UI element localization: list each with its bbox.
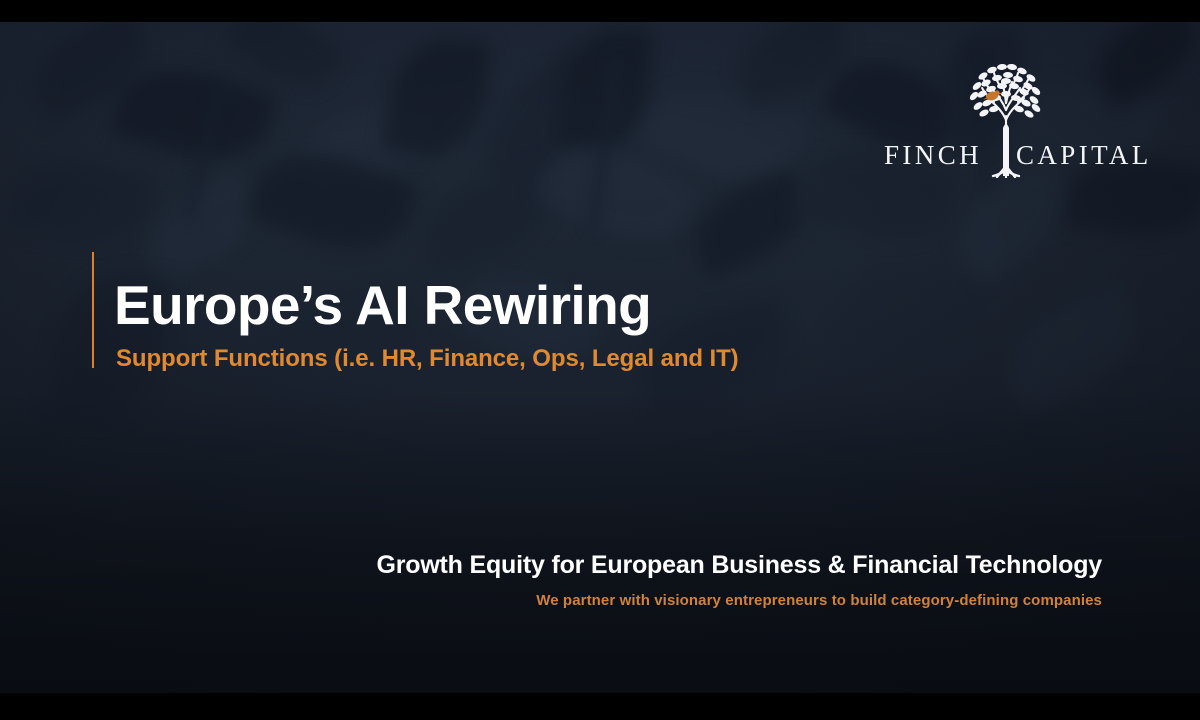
finch-capital-logo[interactable]: FINCH CAPITAL bbox=[880, 58, 1130, 178]
title-accent-bar bbox=[92, 252, 94, 368]
page-title: Europe’s AI Rewiring bbox=[114, 272, 739, 338]
page-subtitle: Support Functions (i.e. HR, Finance, Ops… bbox=[116, 344, 739, 374]
title-block: Europe’s AI Rewiring Support Functions (… bbox=[114, 272, 739, 374]
logo-wordmark: FINCH CAPITAL bbox=[880, 138, 1130, 172]
footer-subtagline: We partner with visionary entrepreneurs … bbox=[0, 590, 1102, 612]
letterbox-bar-top bbox=[0, 0, 1200, 22]
footer-tagline-block: Growth Equity for European Business & Fi… bbox=[0, 548, 1102, 612]
logo-word-finch: FINCH bbox=[884, 138, 982, 172]
footer-tagline: Growth Equity for European Business & Fi… bbox=[0, 548, 1102, 582]
letterbox-bar-bottom bbox=[0, 693, 1200, 720]
logo-word-capital: CAPITAL bbox=[1016, 138, 1152, 172]
title-slide: FINCH CAPITAL Europe’s AI Rewiring Suppo… bbox=[0, 0, 1200, 720]
